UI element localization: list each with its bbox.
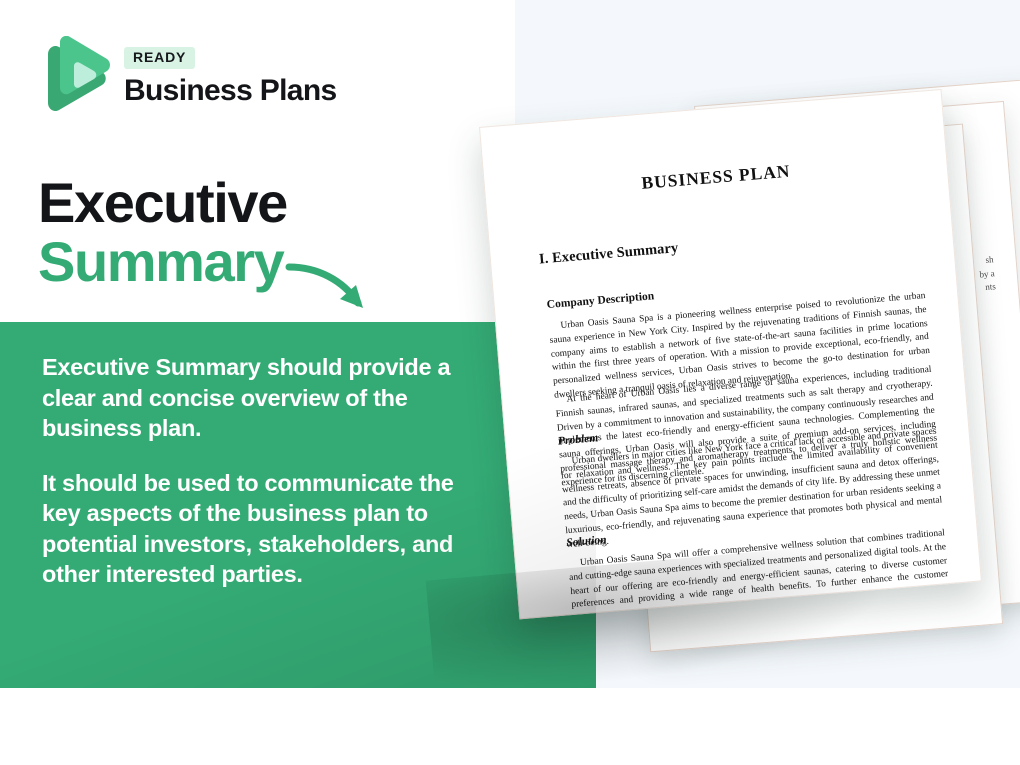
- document-content: BUSINESS PLAN I. Executive Summary Compa…: [480, 90, 981, 618]
- slide-canvas: READY Business Plans Executive Summary E…: [0, 0, 1020, 765]
- document-subheading-company-description: Company Description: [546, 290, 654, 311]
- document-title: BUSINESS PLAN: [485, 148, 947, 207]
- document-section-heading: I. Executive Summary: [538, 240, 679, 268]
- document-sheet-front: BUSINESS PLAN I. Executive Summary Compa…: [479, 89, 982, 619]
- document-stack: sh by a nts na ual its for BUSINESS PLAN…: [0, 0, 1020, 765]
